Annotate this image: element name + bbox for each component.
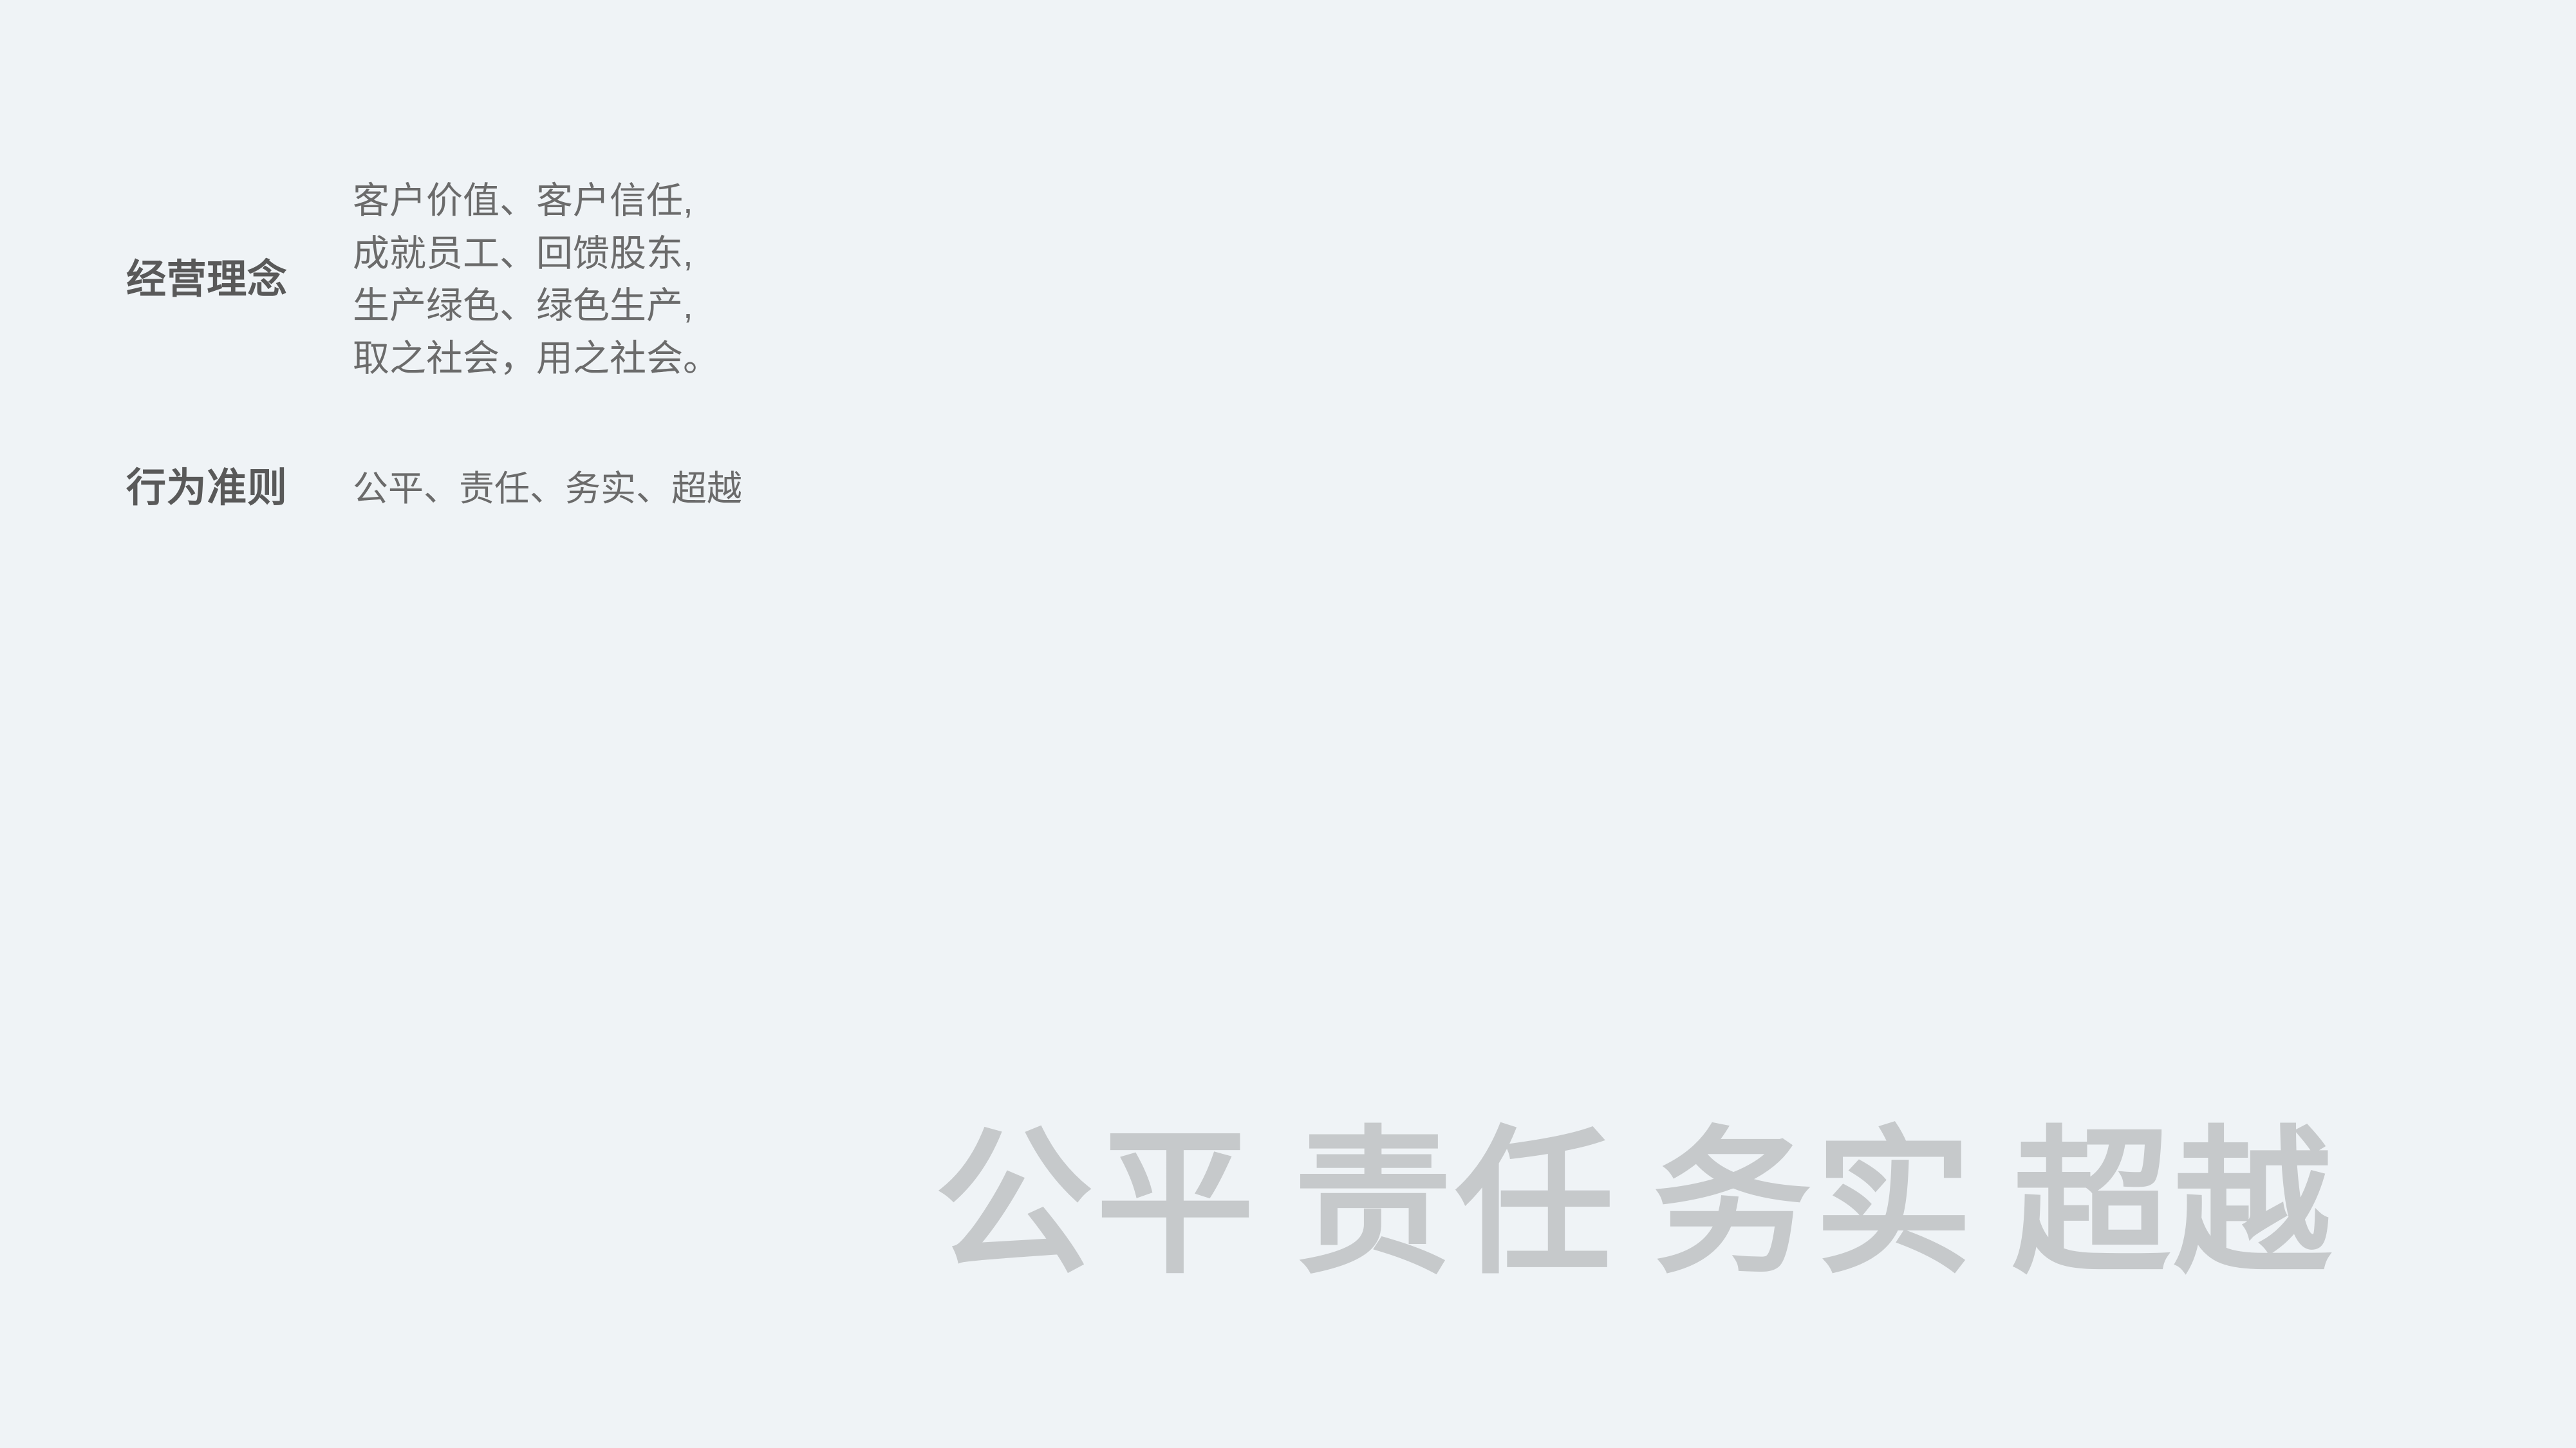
watermark-word-2: 责任 [1294,1115,1617,1292]
values-text-block: 经营理念 客户价值、客户信任, 成就员工、回馈股东, 生产绿色、绿色生产, 取之… [126,175,931,514]
section-lines-code-of-conduct: 公平、责任、务实、超越 [353,463,931,514]
section-lines-business-philosophy: 客户价值、客户信任, 成就员工、回馈股东, 生产绿色、绿色生产, 取之社会，用之… [353,175,931,385]
watermark-word-3: 务实 [1653,1115,1976,1292]
section-business-philosophy: 经营理念 客户价值、客户信任, 成就员工、回馈股东, 生产绿色、绿色生产, 取之… [126,175,931,385]
philosophy-line-3: 生产绿色、绿色生产, [353,280,931,333]
section-label-business-philosophy: 经营理念 [126,258,353,302]
philosophy-line-4: 取之社会，用之社会。 [353,333,931,385]
watermark-word-4: 超越 [2012,1115,2335,1292]
philosophy-line-2: 成就员工、回馈股东, [353,228,931,281]
watermark-word-1: 公平 [935,1115,1258,1292]
banner-canvas: 公平责任务实超越 经营理念 客户价值、客户信任, 成就员工、回馈股东, 生产绿色… [0,0,2576,1448]
section-code-of-conduct: 行为准则 公平、责任、务实、超越 [126,463,931,514]
section-label-code-of-conduct: 行为准则 [126,467,353,510]
philosophy-line-1: 客户价值、客户信任, [353,175,931,228]
watermark-text: 公平责任务实超越 [935,1125,2335,1283]
code-line-1: 公平、责任、务实、超越 [353,463,931,514]
